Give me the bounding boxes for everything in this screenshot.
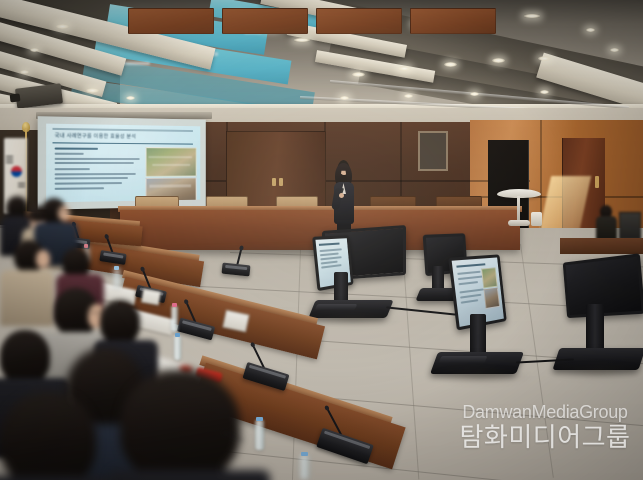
- presentation-slide: 국내 사례연구를 이용한 효율성 분석: [46, 124, 200, 203]
- monitor-slide-photo-1: [481, 267, 498, 288]
- downlight-12: [492, 58, 505, 63]
- attendee-7-head: [100, 300, 140, 344]
- bottle-cap-3: [256, 417, 263, 421]
- downlight-8: [294, 38, 310, 42]
- slide-title-rule: [53, 142, 193, 144]
- slide-photo-aerial: [146, 147, 197, 177]
- water-bottle-2: [174, 336, 181, 360]
- monitor-slide-photo-2: [484, 288, 500, 309]
- downlight-5: [126, 96, 135, 100]
- downlight-2: [30, 48, 39, 52]
- attendee-8-head: [0, 330, 50, 384]
- wall-framed-panel: [418, 131, 448, 171]
- water-bottle-3: [255, 420, 264, 450]
- water-bottle-4: [114, 268, 120, 288]
- door-handle-right[interactable]: [279, 178, 283, 186]
- monitor-right-shadow: [428, 368, 532, 384]
- presenter-hand: [339, 193, 344, 198]
- downlight-17: [586, 28, 595, 32]
- attendee-4-torso: [0, 270, 54, 326]
- dais-panel-1: [128, 8, 214, 34]
- monitor-left-foot: [315, 304, 358, 310]
- bottle-cap-2: [175, 333, 180, 337]
- slide-title: 국내 사례연구를 이용한 효율성 분석: [55, 132, 193, 142]
- attendee-3-glasses: [59, 211, 70, 214]
- bottle-cap-6: [301, 452, 308, 456]
- downlight-19: [340, 96, 349, 100]
- water-bottle-6: [300, 455, 309, 480]
- monitor-left-shadow: [306, 312, 400, 326]
- trigram-5: [18, 186, 25, 187]
- bottle-cap-5: [84, 244, 88, 248]
- desk-lamp-stem: [517, 196, 520, 222]
- attendee-11-torso: [110, 470, 270, 480]
- projection-screen: 국내 사례연구를 이용한 효율성 분석: [38, 116, 206, 210]
- dais-panel-3: [316, 8, 402, 34]
- trigram-3: [6, 162, 13, 163]
- bottle-cap-4: [114, 266, 119, 270]
- dais-panel-4: [410, 8, 496, 34]
- trigram-1: [6, 156, 13, 157]
- trigram-2: [6, 159, 13, 160]
- desk-object: [531, 212, 542, 226]
- attendee-11-head: [120, 370, 240, 480]
- door-handle-left[interactable]: [272, 178, 276, 186]
- desk-lamp-base: [508, 220, 530, 226]
- attendee-10-torso: [0, 476, 120, 480]
- water-bottle-1: [171, 306, 178, 332]
- downlight-9: [352, 72, 365, 77]
- presenter: [331, 160, 357, 232]
- operator-console: [560, 238, 643, 254]
- downlight-16: [524, 14, 540, 18]
- downlight-1: [56, 24, 69, 29]
- conference-hall-photo: 국내 사례연구를 이용한 효율성 분석: [0, 0, 643, 480]
- downlight-4: [86, 88, 99, 93]
- monitor-front-right-foot: [438, 356, 487, 363]
- attendee-4-face: [36, 250, 50, 268]
- downlight-22: [540, 90, 549, 94]
- monitor-far-right-shadow: [548, 364, 643, 380]
- downlight-13: [538, 56, 551, 61]
- dais-panel-2: [222, 8, 308, 34]
- attendee-10-head: [0, 392, 96, 480]
- monitor-far-right-neck: [586, 304, 604, 352]
- name-card-holder-2: [141, 289, 161, 306]
- trigram-4: [18, 183, 25, 184]
- slide-body-text: [55, 148, 144, 193]
- downlight-10: [398, 66, 411, 71]
- bottle-cap-1: [172, 303, 177, 307]
- taeguk-symbol: [11, 166, 22, 177]
- downlight-18: [610, 48, 619, 52]
- operator-monitor: [619, 212, 641, 240]
- downlight-11: [444, 62, 457, 67]
- downlight-3: [20, 70, 29, 74]
- downlight-21: [470, 92, 479, 96]
- downlight-20: [404, 94, 413, 98]
